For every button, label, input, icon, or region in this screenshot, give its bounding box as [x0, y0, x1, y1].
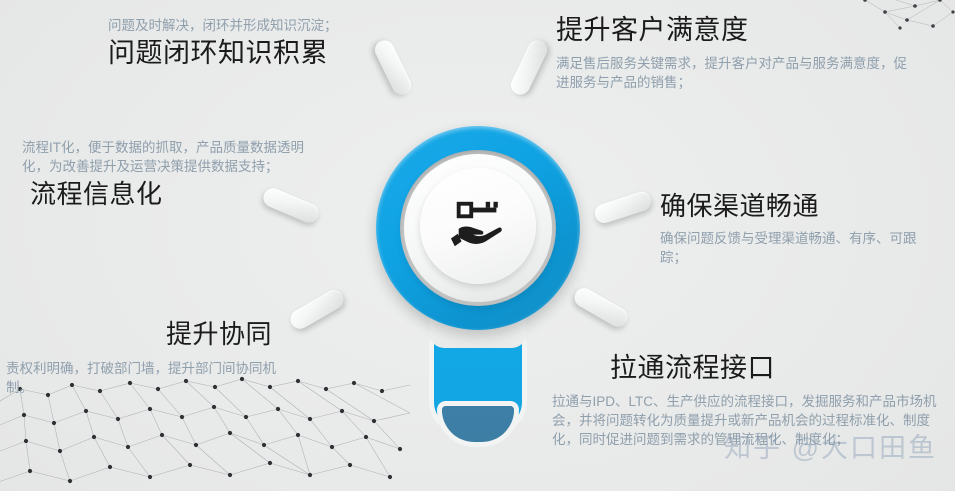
callout-improve-collaboration: 提升协同 责权利明确，打破部门墙，提升部门间协同机制。	[6, 320, 276, 397]
callout-heading: 拉通流程接口	[610, 354, 952, 384]
callout-problem-closed-loop: 问题及时解决，闭环并形成知识沉淀； 问题闭环知识积累	[108, 16, 458, 69]
callout-heading: 提升协同	[166, 320, 276, 349]
spoke-top-right	[508, 37, 551, 97]
callout-channel-unobstructed: 确保渠道畅通 确保问题反馈与受理渠道畅通、有序、可跟踪；	[660, 192, 940, 267]
bulb-base	[442, 406, 514, 442]
callout-heading: 流程信息化	[30, 180, 312, 209]
slide-canvas: 问题及时解决，闭环并形成知识沉淀； 问题闭环知识积累 流程IT化，便于数据的抓取…	[0, 0, 955, 491]
callout-heading: 确保渠道畅通	[660, 192, 940, 221]
callout-description: 责权利明确，打破部门墙，提升部门间协同机制。	[6, 359, 276, 397]
callout-description: 问题及时解决，闭环并形成知识沉淀；	[108, 16, 458, 35]
callout-process-informatization: 流程IT化，便于数据的抓取，产品质量数据透明化，为改善提升及运营决策提供数据支持…	[22, 138, 312, 209]
callout-heading: 提升客户满意度	[556, 16, 908, 46]
zhihu-watermark: 知乎 @大口田鱼	[724, 426, 937, 465]
callout-heading: 问题闭环知识积累	[108, 39, 458, 69]
callout-customer-satisfaction: 提升客户满意度 满足售后服务关键需求，提升客户对产品与服务满意度，促进服务与产品…	[556, 16, 908, 92]
callout-description: 满足售后服务关键需求，提升客户对产品与服务满意度，促进服务与产品的销售；	[556, 54, 908, 92]
hand-holding-key-icon	[438, 188, 518, 262]
callout-description: 确保问题反馈与受理渠道畅通、有序、可跟踪；	[660, 229, 940, 267]
callout-description: 流程IT化，便于数据的抓取，产品质量数据透明化，为改善提升及运营决策提供数据支持…	[22, 138, 312, 176]
